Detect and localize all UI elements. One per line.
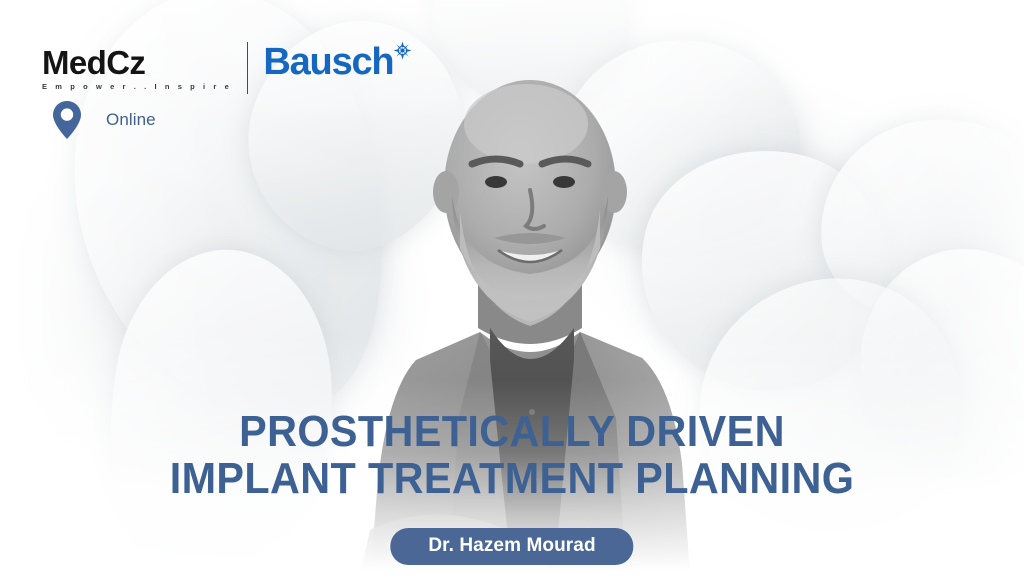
medcz-logo[interactable]: MedCz E m p o w e r . . I n s p i r e — [42, 40, 232, 91]
medcz-tagline: E m p o w e r . . I n s p i r e — [42, 82, 232, 91]
event-format-row: Online — [52, 100, 156, 140]
bausch-logo[interactable]: Bausch — [263, 40, 393, 81]
brand-divider — [247, 42, 249, 94]
webinar-promo-banner: MedCz E m p o w e r . . I n s p i r e Ba… — [0, 0, 1024, 576]
medcz-wordmark: MedCz — [42, 46, 145, 79]
location-pin-icon — [52, 100, 82, 140]
online-label: Online — [106, 110, 156, 130]
page-title: PROSTHETICALLY DRIVEN IMPLANT TREATMENT … — [0, 408, 1024, 502]
compass-rose-icon — [393, 41, 412, 60]
title-line-1: PROSTHETICALLY DRIVEN — [31, 408, 994, 455]
bausch-wordmark: Bausch — [263, 43, 393, 81]
brand-lockup: MedCz E m p o w e r . . I n s p i r e Ba… — [42, 40, 393, 94]
title-line-2: IMPLANT TREATMENT PLANNING — [31, 455, 994, 502]
speaker-name-badge: Dr. Hazem Mourad — [390, 528, 633, 565]
